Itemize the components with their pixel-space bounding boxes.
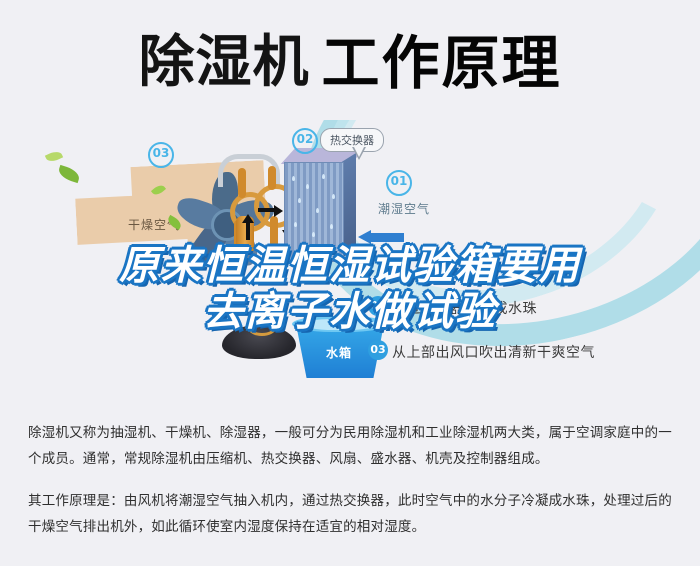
step-badge-02: 02 [368, 296, 388, 316]
infographic-page: 除湿机 工作原理 干燥空气 [0, 0, 700, 566]
flow-arrow-right-icon [274, 205, 283, 217]
leaf-icon [57, 165, 82, 183]
step-text-03: 从上部出风口吹出清新干爽空气 [392, 342, 595, 362]
step-text-02: 经过蒸发器冷凝成水珠 [392, 298, 537, 318]
flow-arrow-stem [258, 208, 274, 212]
flow-arrow-stem [246, 222, 250, 240]
page-title: 除湿机 工作原理 [0, 18, 700, 108]
water-tank-label: 水箱 [326, 344, 352, 361]
heat-exchanger [284, 158, 358, 262]
title-part-dehumidifier: 除湿机 [138, 35, 309, 91]
dehumidifier-diagram: 干燥空气 [0, 120, 700, 405]
body-paragraph-1: 除湿机又称为抽湿机、干燥机、除湿器，一般可分为民用除湿机和工业除湿机两大类，属于… [28, 420, 676, 472]
badge-03-dry-air: 03 [148, 142, 174, 168]
body-copy: 除湿机又称为抽湿机、干燥机、除湿器，一般可分为民用除湿机和工业除湿机两大类，属于… [28, 420, 676, 556]
callout-pointer-icon [352, 147, 366, 160]
moist-air-label: 潮湿空气 [378, 200, 430, 217]
body-paragraph-2: 其工作原理是：由风机将潮湿空气抽入机内，通过热交换器，此时空气中的水分子冷凝成水… [28, 488, 676, 540]
step-badge-03: 03 [368, 340, 388, 360]
compressor-ring [248, 320, 276, 336]
flow-arrow-up-icon [242, 214, 254, 223]
badge-01-moist-air: 01 [386, 170, 412, 196]
air-intake-arrow-icon [358, 230, 404, 244]
condensation-droplets [286, 168, 342, 256]
title-part-working-principle: 工作原理 [321, 34, 561, 92]
leaf-icon [45, 149, 63, 164]
badge-02-heat-exchanger: 02 [292, 128, 318, 154]
